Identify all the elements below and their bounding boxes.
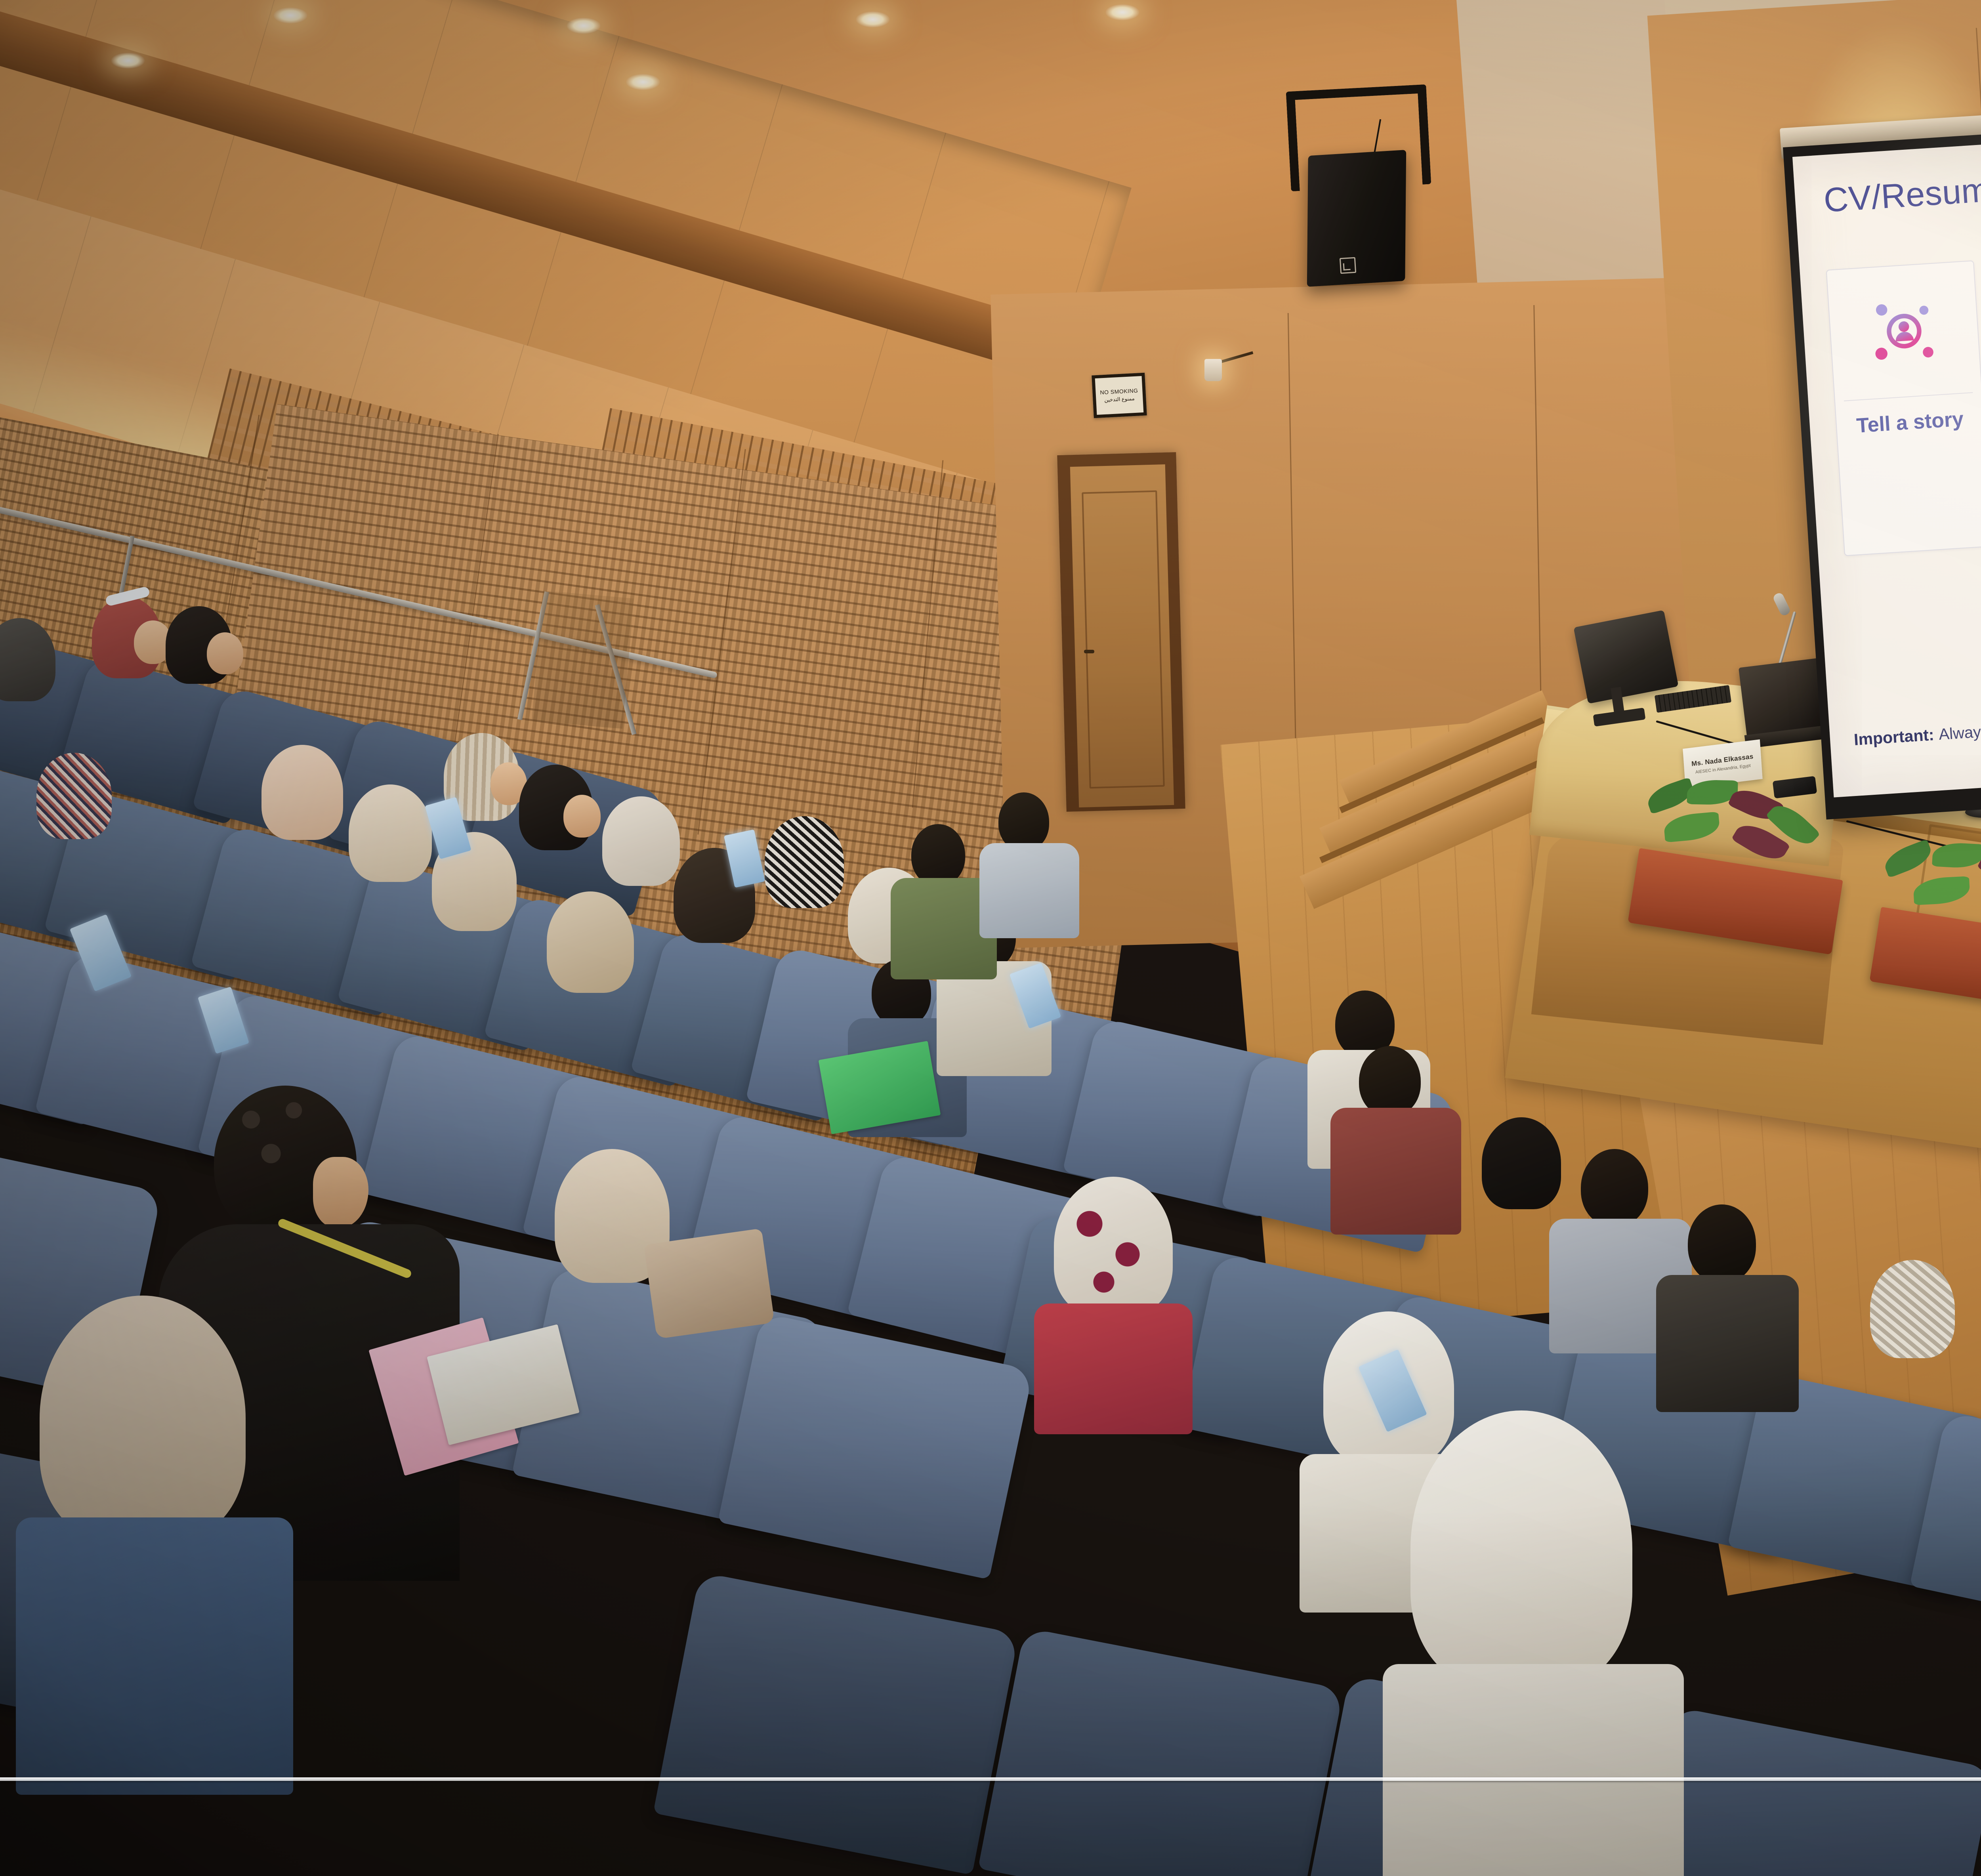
backpack: [644, 1228, 775, 1339]
ceiling-downlight: [273, 7, 307, 24]
door-inner-panel: [1082, 490, 1165, 789]
ceiling-downlight: [856, 11, 890, 28]
watermark-rule: [0, 1777, 1981, 1781]
slide-title: CV/Resume Tips: [1823, 164, 1981, 220]
handrail-glass-panel: [532, 591, 634, 729]
important-text: Always tailor your CV to the role you ar…: [1938, 702, 1981, 743]
no-smoking-label-ar: ممنوع التدخين: [1104, 395, 1135, 404]
tip-card-tell-a-story: Tell a story: [1826, 260, 1981, 556]
person-network-icon: [1864, 291, 1944, 371]
no-smoking-sign: NO SMOKING ممنوع التدخين: [1092, 373, 1147, 418]
slide-important-note: Important:Always tailor your CV to the r…: [1853, 702, 1981, 749]
door-handle[interactable]: [1084, 650, 1094, 653]
ceiling-downlight: [1105, 4, 1139, 21]
important-label: Important:: [1853, 725, 1935, 749]
planter-foliage: [1868, 823, 1981, 947]
auditorium-photograph: NO SMOKING ممنوع التدخين: [0, 0, 1981, 1876]
wall-loudspeaker: [1307, 150, 1406, 287]
ceiling-downlight: [111, 52, 145, 69]
tip-icon-wrap: [1827, 261, 1981, 401]
tip-label: Tell a story: [1835, 392, 1981, 555]
slide-tip-cards: Tell a story: [1818, 210, 1981, 693]
wall-sconce-light: [1204, 359, 1222, 381]
ceiling-downlight: [626, 74, 660, 90]
speaker-brand-logo-icon: [1340, 257, 1356, 274]
ceiling-downlight: [567, 17, 601, 34]
